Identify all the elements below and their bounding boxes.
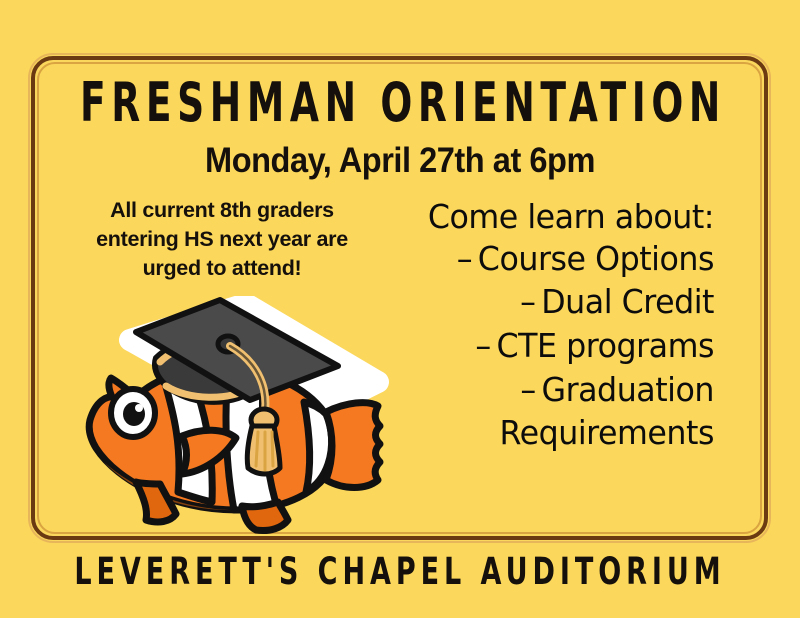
list-bullet-dash: –	[457, 239, 472, 278]
topics-list: Come learn about: –Course Options –Dual …	[384, 198, 714, 455]
page-title: FRESHMAN ORIENTATION	[80, 76, 720, 131]
topics-list-heading: Come learn about:	[397, 198, 714, 237]
audience-note-line-1: All current 8th graders	[72, 196, 372, 225]
graduating-clownfish-icon	[78, 296, 408, 536]
list-item-label: Requirements	[500, 413, 714, 452]
audience-note: All current 8th graders entering HS next…	[72, 196, 372, 284]
list-item-label: Course Options	[478, 239, 714, 278]
poster-canvas: FRESHMAN ORIENTATION Monday, April 27th …	[0, 0, 800, 618]
list-item: –Course Options	[397, 237, 714, 281]
list-bullet-dash: –	[520, 370, 535, 409]
list-item-label: Graduation	[542, 370, 714, 409]
list-item-label: Dual Credit	[541, 282, 714, 321]
venue-name: LEVERETT'S CHAPEL AUDITORIUM	[72, 552, 728, 590]
event-datetime: Monday, April 27th at 6pm	[28, 141, 772, 181]
audience-note-line-3: urged to attend!	[72, 254, 372, 283]
list-item-continuation: Requirements	[397, 411, 714, 455]
list-item: –CTE programs	[397, 324, 714, 368]
list-item: –Dual Credit	[397, 280, 714, 324]
audience-note-line-2: entering HS next year are	[72, 225, 372, 254]
list-item-label: CTE programs	[496, 326, 714, 365]
list-bullet-dash: –	[520, 282, 535, 321]
list-item: –Graduation	[397, 368, 714, 412]
list-bullet-dash: –	[475, 326, 490, 365]
